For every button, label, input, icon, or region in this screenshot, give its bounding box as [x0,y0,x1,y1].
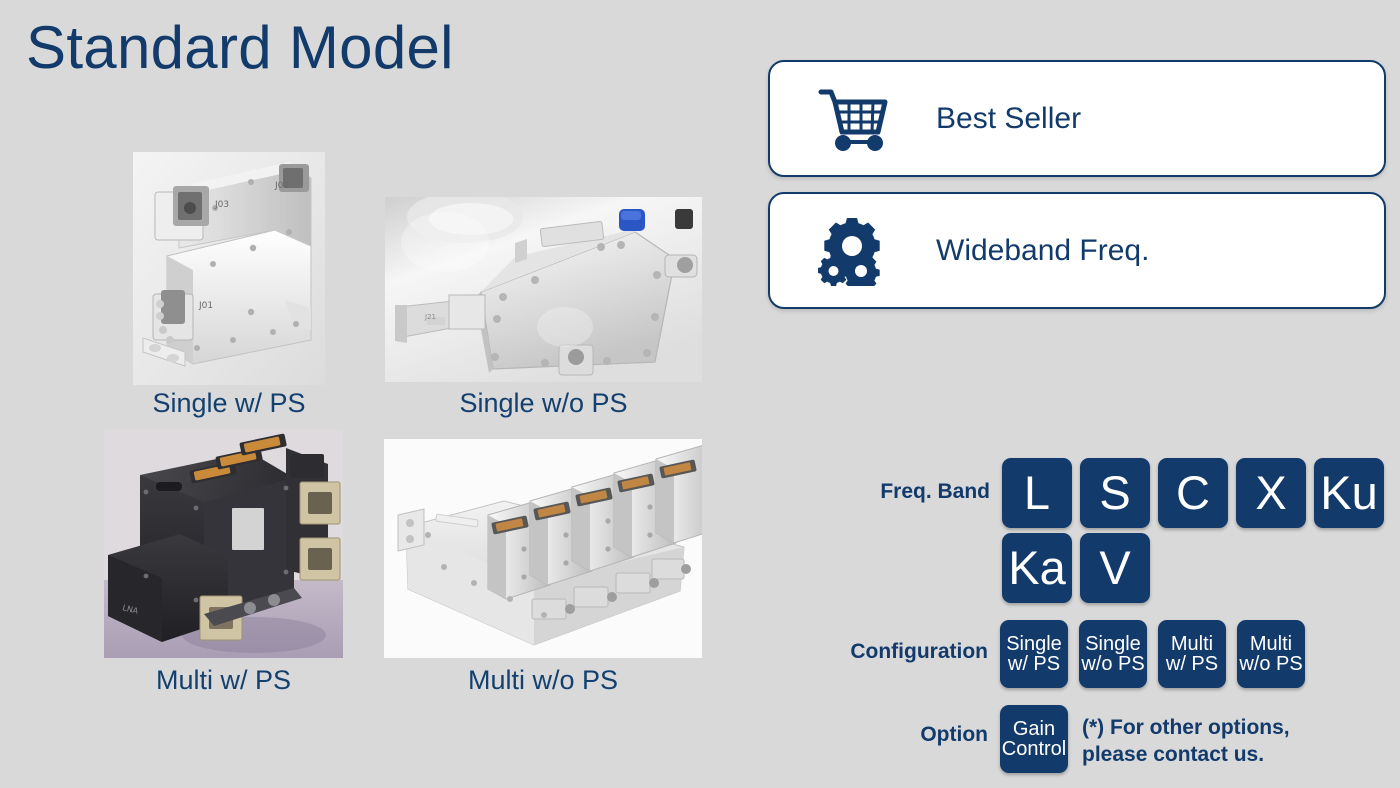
spec-label-configuration: Configuration [838,620,988,664]
option-badges: Gain Control [1000,705,1068,773]
badge-config-single-without-ps[interactable]: Single w/o PS [1079,620,1147,688]
option-note: (*) For other options, please contact us… [1082,705,1290,769]
product-photo-single-without-ps[interactable]: J21 [385,197,702,382]
feature-card-best-seller[interactable]: Best Seller [768,60,1386,177]
product-photo-multi-without-ps[interactable] [384,439,702,658]
badge-line-2: w/o PS [1239,654,1302,674]
badge-option-gain-control[interactable]: Gain Control [1000,705,1068,773]
badge-freq-s[interactable]: S [1080,458,1150,528]
feature-card-wideband-freq[interactable]: Wideband Freq. [768,192,1386,309]
badge-freq-c[interactable]: C [1158,458,1228,528]
badge-line-1: Gain [1013,719,1055,739]
freq-band-badges: L S C X Ku Ka V [1002,458,1394,608]
caption-multi-with-ps: Multi w/ PS [104,665,343,696]
badge-freq-ku[interactable]: Ku [1314,458,1384,528]
shopping-cart-icon [800,86,908,152]
caption-single-with-ps: Single w/ PS [133,388,325,419]
badge-line-2: w/ PS [1166,654,1218,674]
page-title: Standard Model [26,13,454,82]
badge-line-2: w/o PS [1081,654,1144,674]
spec-row-freq-band: Freq. Band L S C X Ku Ka V [862,458,1400,608]
badge-freq-ka[interactable]: Ka [1002,533,1072,603]
badge-freq-v[interactable]: V [1080,533,1150,603]
feature-label-best-seller: Best Seller [936,102,1081,136]
badge-config-single-with-ps[interactable]: Single w/ PS [1000,620,1068,688]
badge-line-1: Single [1085,634,1141,654]
spec-row-option: Option Gain Control (*) For other option… [912,705,1290,773]
option-note-line-2: please contact us. [1082,742,1290,769]
product-photo-multi-with-ps[interactable]: LNA [104,430,343,658]
badge-config-multi-with-ps[interactable]: Multi w/ PS [1158,620,1226,688]
spec-label-freq-band: Freq. Band [862,458,990,504]
slide-root: Standard Model [0,0,1400,788]
svg-text:J02: J02 [274,181,289,191]
svg-text:J03: J03 [214,200,229,210]
caption-multi-without-ps: Multi w/o PS [384,665,702,696]
badge-line-2: w/ PS [1008,654,1060,674]
svg-text:J21: J21 [424,313,436,321]
svg-text:J01: J01 [198,301,213,311]
configuration-badges: Single w/ PS Single w/o PS Multi w/ PS M… [1000,620,1316,688]
badge-config-multi-without-ps[interactable]: Multi w/o PS [1237,620,1305,688]
option-note-line-1: (*) For other options, [1082,715,1290,742]
badge-line-1: Multi [1171,634,1213,654]
badge-freq-l[interactable]: L [1002,458,1072,528]
badge-freq-x[interactable]: X [1236,458,1306,528]
spec-row-configuration: Configuration Single w/ PS Single w/o PS… [838,620,1316,688]
spec-label-option: Option [912,705,988,747]
badge-line-1: Multi [1250,634,1292,654]
badge-line-2: Control [1002,739,1066,759]
caption-single-without-ps: Single w/o PS [385,388,702,419]
product-photo-single-with-ps[interactable]: J03 J02 J01 [133,152,325,385]
badge-line-1: Single [1006,634,1062,654]
gears-icon [800,216,908,286]
feature-label-wideband-freq: Wideband Freq. [936,234,1149,268]
